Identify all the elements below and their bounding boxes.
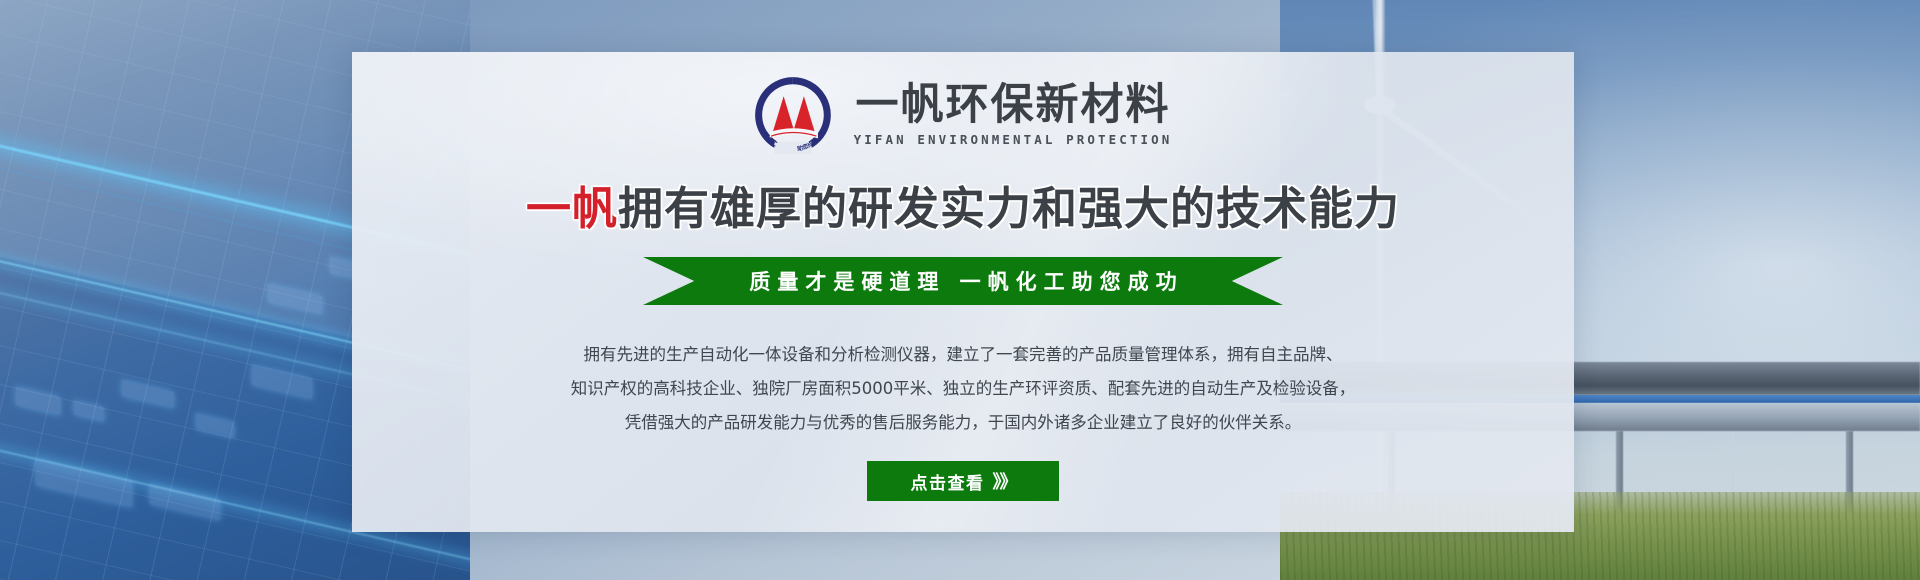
slogan-ribbon-wrap: 质量才是硬道理 一帆化工助您成功 xyxy=(643,257,1283,305)
cta-wrap: 点击查看 》》 xyxy=(867,461,1059,501)
content-card: 一帆化工 助您成功 一帆环保新材料 YIFAN ENVIRONMENTAL P xyxy=(352,52,1574,532)
paragraph-line: 凭借强大的产品研发能力与优秀的售后服务能力，于国内外诸多企业建立了良好的伙伴关系… xyxy=(463,406,1463,440)
brand-name-english: YIFAN ENVIRONMENTAL PROTECTION xyxy=(854,132,1173,147)
brand-header: 一帆化工 助您成功 一帆环保新材料 YIFAN ENVIRONMENTAL P xyxy=(754,76,1173,154)
double-chevron-right-icon: 》》 xyxy=(993,468,1016,494)
paragraph-line: 拥有先进的生产自动化一体设备和分析检测仪器，建立了一套完善的产品质量管理体系，拥… xyxy=(463,338,1463,372)
slogan-text: 质量才是硬道理 一帆化工助您成功 xyxy=(742,266,1183,296)
headline-accent: 一帆 xyxy=(526,182,618,235)
slogan-ribbon: 质量才是硬道理 一帆化工助您成功 xyxy=(643,257,1283,305)
paragraph-line: 知识产权的高科技企业、独院厂房面积5000平米、独立的生产环评资质、配套先进的自… xyxy=(463,372,1463,406)
view-more-label: 点击查看 xyxy=(911,469,985,494)
page-title: 一帆拥有雄厚的研发实力和强大的技术能力 xyxy=(526,172,1400,237)
promo-banner: 一帆化工 助您成功 一帆环保新材料 YIFAN ENVIRONMENTAL P xyxy=(0,0,1920,580)
yifan-sail-circle-logo-icon: 一帆化工 助您成功 xyxy=(754,76,832,154)
view-more-button[interactable]: 点击查看 》》 xyxy=(867,461,1059,501)
brand-name-chinese: 一帆环保新材料 xyxy=(856,83,1171,128)
description-paragraph: 拥有先进的生产自动化一体设备和分析检测仪器，建立了一套完善的产品质量管理体系，拥… xyxy=(463,338,1463,439)
headline-rest: 拥有雄厚的研发实力和强大的技术能力 xyxy=(618,182,1400,235)
